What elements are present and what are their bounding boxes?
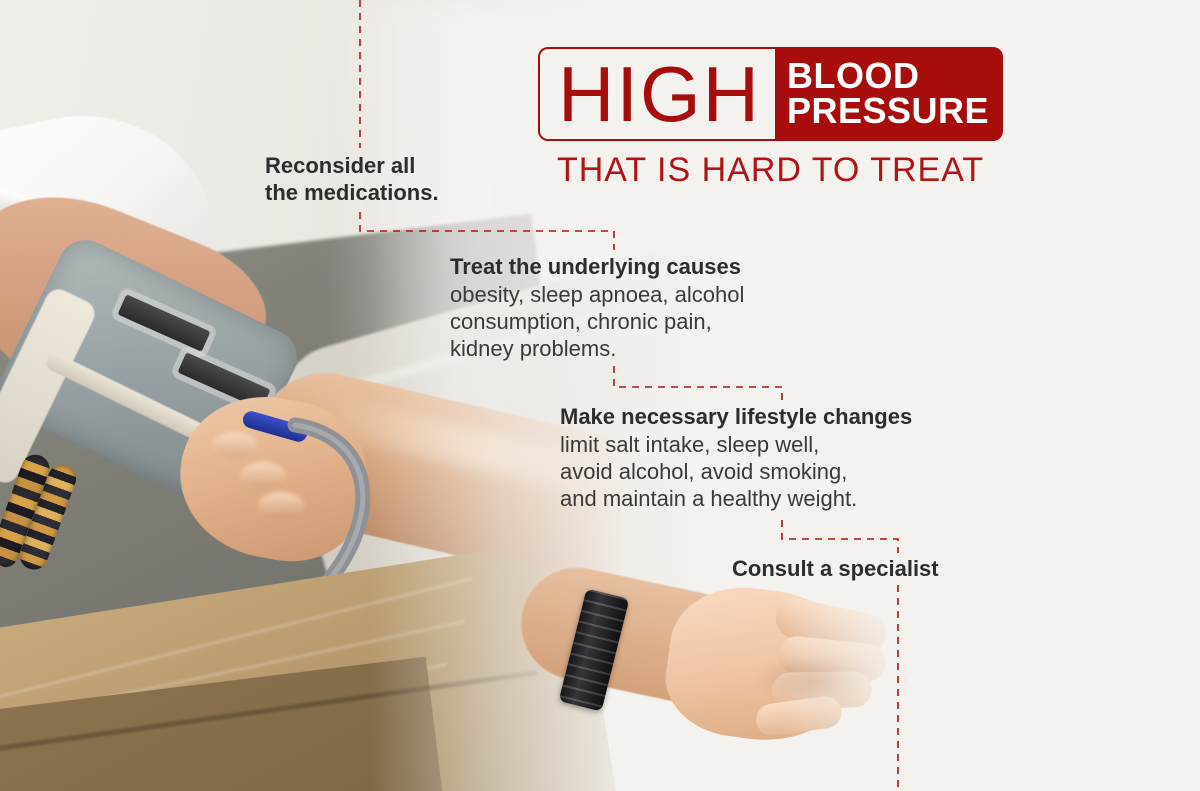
blood-pressure-red-box: BLOOD PRESSURE: [775, 47, 1003, 141]
callout-body: obesity, sleep apnoea, alcohol consumpti…: [450, 281, 744, 363]
callout-consult-specialist: Consult a specialist: [732, 556, 939, 583]
hand-fade-mask: [780, 550, 960, 791]
callout-lifestyle-changes: Make necessary lifestyle changes limit s…: [560, 404, 912, 513]
high-outline-box: HIGH: [538, 47, 775, 141]
logo-blood-word: BLOOD: [787, 59, 989, 94]
callout-body: limit salt intake, sleep well, avoid alc…: [560, 431, 912, 513]
logo-lockup: HIGH BLOOD PRESSURE THAT IS HARD TO TREA…: [538, 47, 1003, 190]
callout-heading: Reconsider all the medications.: [265, 152, 439, 207]
callout-reconsider-medications: Reconsider all the medications.: [265, 152, 439, 207]
callout-heading: Make necessary lifestyle changes: [560, 404, 912, 431]
connector-3-to-4: [782, 520, 898, 553]
logo-tagline: THAT IS HARD TO TREAT: [538, 151, 1003, 190]
logo-high-word: HIGH: [558, 55, 761, 133]
infographic-canvas: HIGH BLOOD PRESSURE THAT IS HARD TO TREA…: [0, 0, 1200, 791]
callout-heading: Consult a specialist: [732, 556, 939, 583]
callout-underlying-causes: Treat the underlying causes obesity, sle…: [450, 254, 744, 363]
logo-pressure-word: PRESSURE: [787, 94, 989, 129]
open-hand-with-watch: [560, 560, 920, 791]
callout-heading: Treat the underlying causes: [450, 254, 744, 281]
logo-boxes: HIGH BLOOD PRESSURE: [538, 47, 1003, 141]
